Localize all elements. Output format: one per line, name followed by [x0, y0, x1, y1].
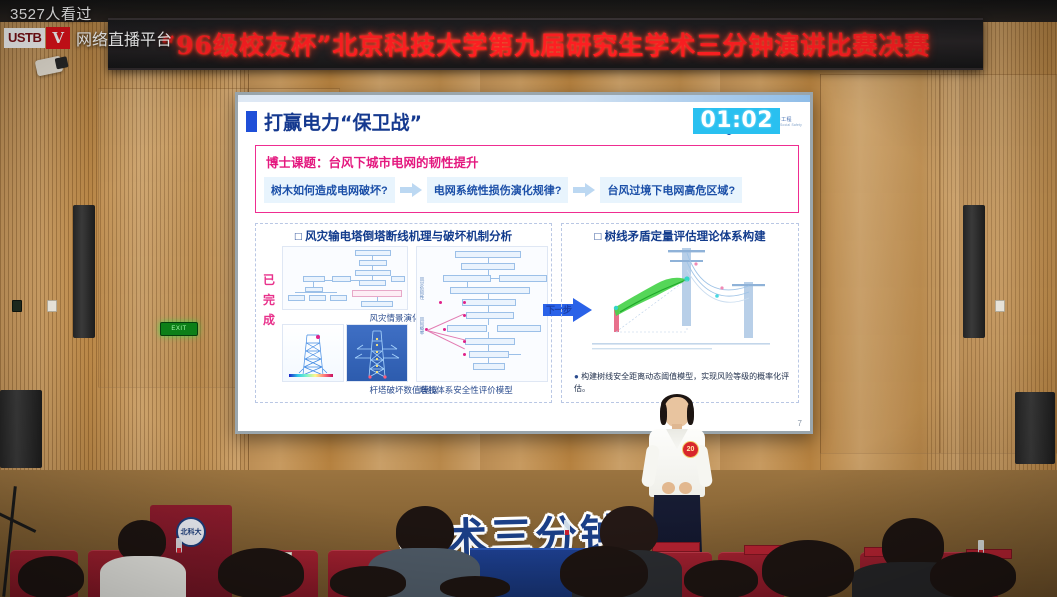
slide-top-accent [238, 95, 810, 102]
wall-speaker-right [963, 205, 985, 338]
audience-shoulder [100, 556, 186, 597]
side-label-2: 风险概率 [419, 317, 425, 335]
brand-v-logo: V [46, 27, 70, 49]
audience-head [18, 556, 84, 597]
left-panel-heading-row: □ 风灾输电塔倒塔断线机理与破坏机制分析 [256, 228, 551, 244]
flow-arrow-icon-2 [573, 183, 595, 197]
question-chip-1: 树木如何造成电网破坏? [264, 177, 395, 203]
side-label-1: 风灾危险性 [419, 277, 425, 300]
wall-socket-c [995, 300, 1005, 312]
brand-platform-name: 网络直播平台 [76, 26, 172, 50]
audience-head [330, 566, 406, 597]
right-panel-bullet: 构建树线安全距离动态阈值模型，实现风险等级的概率化评估。 [574, 372, 789, 393]
audience-head [930, 552, 1016, 597]
left-panel-heading: 风灾输电塔倒塔断线机理与破坏机制分析 [305, 231, 512, 243]
water-bottle [564, 520, 570, 535]
presenter-hand-right [679, 482, 692, 494]
wall-panel-a [98, 88, 248, 388]
exit-sign-label: EXIT [171, 326, 186, 332]
presentation-slide: 打赢电力“保卫战” 社会安全科学与工程 Research Institute f… [238, 95, 810, 431]
event-banner: “96级校友杯”北京科技大学第九届研究生学术三分钟演讲比赛决赛 [108, 18, 983, 70]
audience-head [440, 576, 510, 597]
audience-head [762, 540, 854, 597]
desk-nameplate [652, 542, 700, 552]
wall-socket-b [47, 300, 57, 312]
question-flow: 树木如何造成电网破坏? 电网系统性损伤演化规律? 台风过境下电网高危区域? [264, 175, 792, 205]
presenter-hand-left [662, 482, 675, 494]
audience-head [560, 546, 648, 597]
event-banner-text: “96级校友杯”北京科技大学第九届研究生学术三分钟演讲比赛决赛 [161, 26, 931, 62]
water-bottle [176, 538, 182, 553]
projection-screen: 打赢电力“保卫战” 社会安全科学与工程 Research Institute f… [235, 92, 813, 434]
presenter-hair-right [687, 403, 694, 425]
wall-speaker-left [73, 205, 95, 338]
floor-speaker-left [0, 390, 42, 468]
slide-header: 打赢电力“保卫战” 社会安全科学与工程 Research Institute f… [238, 105, 810, 139]
broadcast-frame: EXIT “96级校友杯”北京科技大学第九届研究生学术三分钟演讲比赛决赛 打赢电… [0, 0, 1057, 597]
bullet-marker: ● [574, 372, 579, 381]
slide-title-marker [246, 111, 257, 132]
figure-wind-scenario [282, 246, 408, 310]
question-chip-3: 台风过境下电网高危区域? [600, 177, 742, 203]
audience-head [684, 560, 758, 597]
presenter-hair-left [660, 403, 667, 425]
panel-next-work: □ 树线矛盾定量评估理论体系构建 [561, 223, 799, 403]
countdown-timer: 01:02 [693, 108, 780, 134]
slide-title: 打赢电力“保卫战” [264, 108, 422, 135]
audience-head [218, 548, 304, 597]
platform-brand: USTB V 网络直播平台 [4, 25, 172, 51]
presenter-number-badge: 20 [682, 441, 699, 458]
floor-speaker-right [1015, 392, 1055, 464]
viewer-count: 3527人看过 [10, 3, 92, 24]
colorbar [289, 374, 333, 377]
exit-sign-icon: EXIT [160, 322, 198, 336]
flow-arrow-icon-1 [400, 183, 422, 197]
panel-completed-work: □ 风灾输电塔倒塔断线机理与破坏机制分析 已完成 [255, 223, 552, 403]
right-panel-bullet-row: ● 构建树线安全距离动态阈值模型，实现风险等级的概率化评估。 [574, 371, 792, 395]
figure-tower-damage-sim-b [346, 324, 408, 382]
slide-page-number: 7 [798, 419, 802, 428]
left-panel-marker: □ [295, 231, 302, 243]
wall-socket-a [12, 300, 22, 312]
topic-heading: 博士课题：台风下城市电网的韧性提升 [266, 152, 479, 171]
figure-caption-3: 塔线体系安全性评价模型 [386, 384, 546, 396]
brand-ustb-logo: USTB [4, 28, 45, 48]
figure-tower-damage-sim-a [282, 324, 344, 382]
wall-seam-a [820, 74, 821, 474]
question-chip-2: 电网系统性损伤演化规律? [427, 177, 569, 203]
wall-panel-d [820, 74, 940, 454]
figure-tower-line-safety-model: 风灾危险性 风险概率 [416, 246, 548, 382]
figure-tree-line-conflict [586, 240, 778, 358]
topic-box: 博士课题：台风下城市电网的韧性提升 树木如何造成电网破坏? 电网系统性损伤演化规… [255, 145, 799, 213]
